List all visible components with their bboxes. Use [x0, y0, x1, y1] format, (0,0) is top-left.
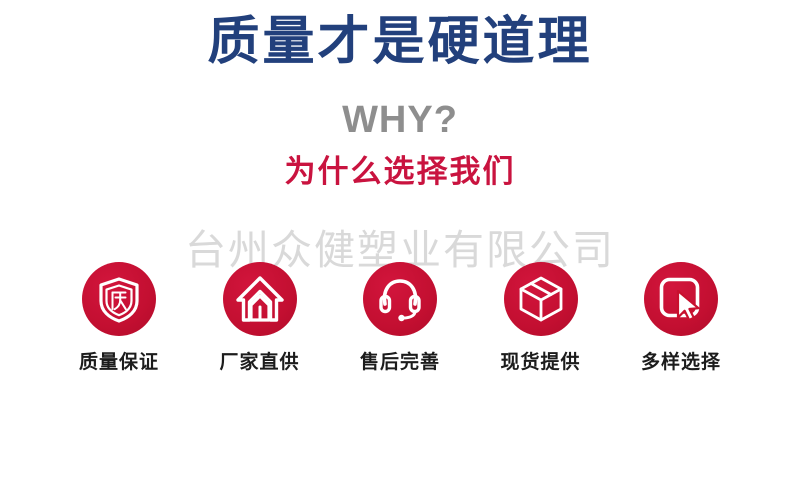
cursor-select-icon: [656, 274, 706, 324]
feature-item-support: 售后完善: [336, 262, 464, 372]
feature-list: 质量保证 厂家直供: [55, 262, 745, 372]
why-heading: WHY?: [0, 100, 800, 142]
feature-label-quality: 质量保证: [79, 353, 159, 372]
promo-banner: 质量才是硬道理 WHY? 为什么选择我们 台州众健塑业有限公司: [0, 0, 800, 492]
headset-support-icon: [375, 274, 425, 324]
feature-item-stock: 现货提供: [477, 262, 605, 372]
package-box-icon: [516, 274, 566, 324]
feature-item-choice: 多样选择: [617, 262, 745, 372]
feature-label-factory: 厂家直供: [219, 353, 299, 372]
badge-circle-factory: [223, 262, 297, 336]
badge-circle-support: [363, 262, 437, 336]
feature-item-quality: 质量保证: [55, 262, 183, 372]
badge-circle-quality: [82, 262, 156, 336]
subheading: 为什么选择我们: [0, 153, 800, 190]
feature-label-support: 售后完善: [360, 353, 440, 372]
feature-item-factory: 厂家直供: [196, 262, 324, 372]
feature-label-choice: 多样选择: [641, 353, 721, 372]
shield-quality-icon: [94, 274, 144, 324]
badge-circle-choice: [644, 262, 718, 336]
badge-circle-stock: [504, 262, 578, 336]
factory-house-icon: [235, 274, 285, 324]
feature-label-stock: 现货提供: [500, 353, 580, 372]
page-title: 质量才是硬道理: [0, 14, 800, 71]
